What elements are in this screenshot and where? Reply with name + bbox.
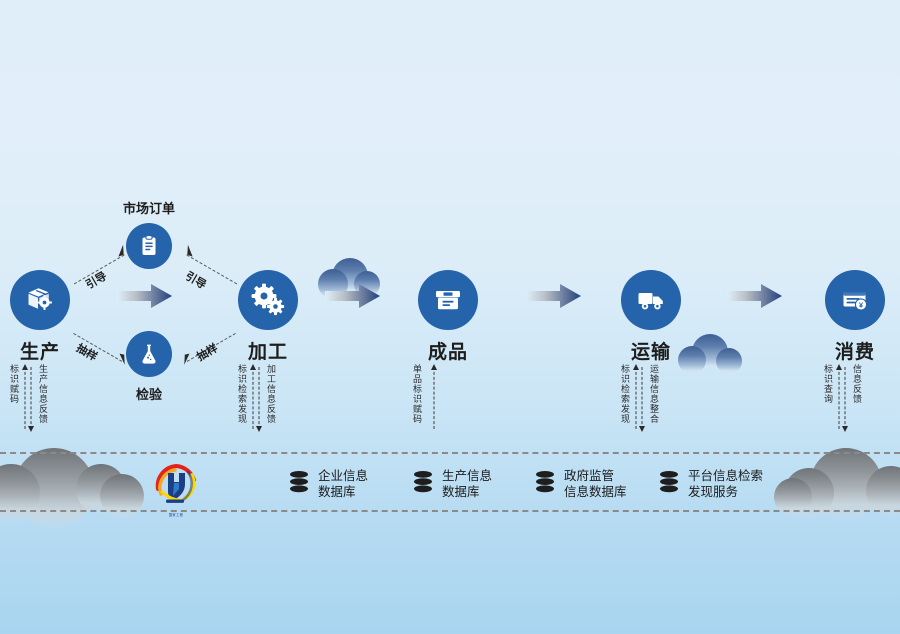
feedback-processing-arrows <box>250 364 262 432</box>
truck-icon <box>621 270 681 330</box>
node-inspection[interactable]: 检验 <box>101 331 197 403</box>
node-production[interactable]: 生产 <box>9 270 71 364</box>
db-item-production-info[interactable]: 生产信息 数据库 <box>412 468 492 500</box>
finished-product-label: 成品 <box>417 337 479 364</box>
db-label-line1: 平台信息检索 <box>688 469 763 483</box>
db-label-enterprise-info: 企业信息 数据库 <box>318 468 368 500</box>
feedback-processing-right: 加工信息反馈 <box>265 364 276 424</box>
feedback-processing-left: 标识检索发现 <box>236 364 247 424</box>
feedback-transport: 标识检索发现 运输信息整合 <box>619 364 659 432</box>
database-icon <box>534 470 556 499</box>
feedback-production-right: 生产信息反馈 <box>37 364 48 424</box>
database-icon <box>658 470 680 499</box>
database-icon <box>288 470 310 499</box>
feedback-transport-right: 运输信息整合 <box>648 364 659 424</box>
gears-icon <box>238 270 298 330</box>
db-label-line1: 企业信息 <box>318 469 368 483</box>
transport-label: 运输 <box>620 337 682 364</box>
db-label-line2: 数据库 <box>442 485 480 499</box>
flask-icon <box>126 331 172 377</box>
feedback-transport-arrows <box>633 364 645 432</box>
feedback-production-arrows <box>22 364 34 432</box>
node-consumption[interactable]: ¥ 消费 <box>824 270 886 364</box>
feedback-consumption-arrows <box>836 364 848 432</box>
feedback-finished-left: 单品标识赋码 <box>411 364 422 424</box>
flow-arrow-transport-to-consumption <box>727 283 783 309</box>
feedback-consumption-left: 标识查询 <box>822 364 833 404</box>
feedback-finished-arrows <box>425 364 437 432</box>
feedback-consumption-right: 信息反馈 <box>851 364 862 404</box>
flow-arrow-processing-to-finished <box>325 283 381 309</box>
inspection-label: 检验 <box>101 384 197 403</box>
db-label-line2: 信息数据库 <box>564 485 627 499</box>
consumption-label: 消费 <box>824 337 886 364</box>
db-item-platform-discovery-service[interactable]: 平台信息检索 发现服务 <box>658 468 763 500</box>
db-item-government-supervision[interactable]: 政府监管 信息数据库 <box>534 468 627 500</box>
feedback-consumption: 标识查询 信息反馈 <box>822 364 862 432</box>
db-label-line1: 政府监管 <box>564 469 614 483</box>
diagram-canvas: 市场订单 检验 引导 <box>0 0 900 634</box>
package-label-icon <box>418 270 478 330</box>
box-gear-icon <box>10 270 70 330</box>
platform-logo: 国家工程 <box>152 459 200 507</box>
feedback-production-left: 标识赋码 <box>8 364 19 404</box>
db-item-enterprise-info[interactable]: 企业信息 数据库 <box>288 468 368 500</box>
node-transport[interactable]: 运输 <box>620 270 682 364</box>
production-label: 生产 <box>9 337 71 364</box>
database-icon <box>412 470 434 499</box>
platform-logo-caption: 国家工程 <box>152 512 200 517</box>
flow-arrow-finished-to-transport <box>526 283 582 309</box>
receipt-yuan-icon: ¥ <box>825 270 885 330</box>
platform-band: 国家工程 企业信息 数据库 <box>0 452 900 512</box>
db-label-line2: 发现服务 <box>688 485 738 499</box>
db-label-line2: 数据库 <box>318 485 356 499</box>
db-label-production-info: 生产信息 数据库 <box>442 468 492 500</box>
flow-arrow-production-to-processing <box>117 283 173 309</box>
cloud-decoration-transport <box>676 334 748 374</box>
node-finished-product[interactable]: 成品 <box>417 270 479 364</box>
clipboard-icon <box>126 223 172 269</box>
node-processing[interactable]: 加工 <box>237 270 299 364</box>
processing-label: 加工 <box>237 337 299 364</box>
market-order-label: 市场订单 <box>101 198 197 217</box>
feedback-transport-left: 标识检索发现 <box>619 364 630 424</box>
feedback-production: 标识赋码 生产信息反馈 <box>8 364 48 432</box>
db-label-platform-discovery-service: 平台信息检索 发现服务 <box>688 468 763 500</box>
feedback-finished-product: 单品标识赋码 <box>411 364 437 432</box>
db-label-line1: 生产信息 <box>442 469 492 483</box>
feedback-processing: 标识检索发现 加工信息反馈 <box>236 364 276 432</box>
db-label-government-supervision: 政府监管 信息数据库 <box>564 468 627 500</box>
